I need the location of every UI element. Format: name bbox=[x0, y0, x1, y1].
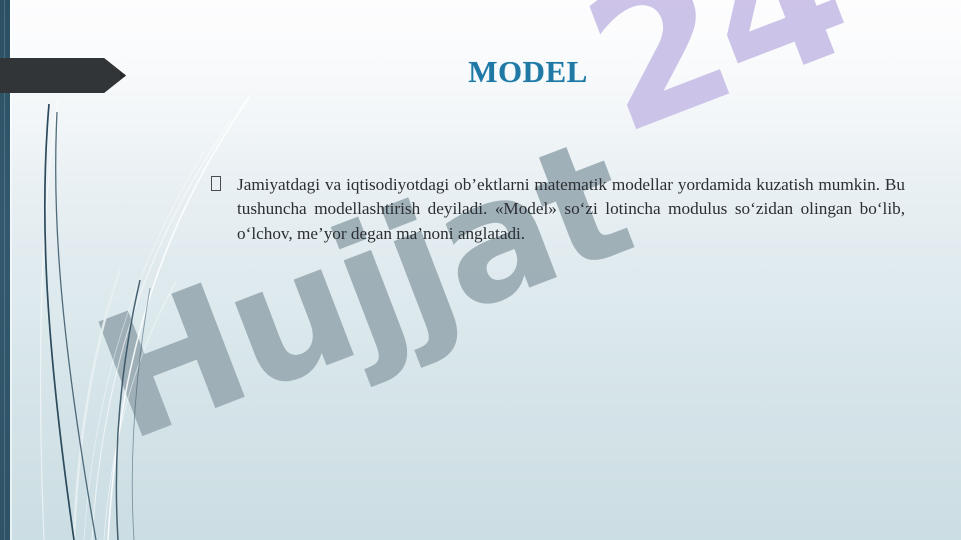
slide-title: MODEL bbox=[0, 54, 961, 90]
bullet-list-item: Jamiyatdagi va iqtisodiyotdagi ob’ektlar… bbox=[211, 173, 905, 246]
watermark-brand-hujjat: Hujjat bbox=[72, 101, 651, 479]
presentation-slide: 24 Hujjat MODEL bbox=[0, 0, 961, 540]
missing-glyph-box-icon bbox=[211, 173, 237, 197]
body-paragraph: Jamiyatdagi va iqtisodiyotdagi ob’ektlar… bbox=[237, 173, 905, 246]
